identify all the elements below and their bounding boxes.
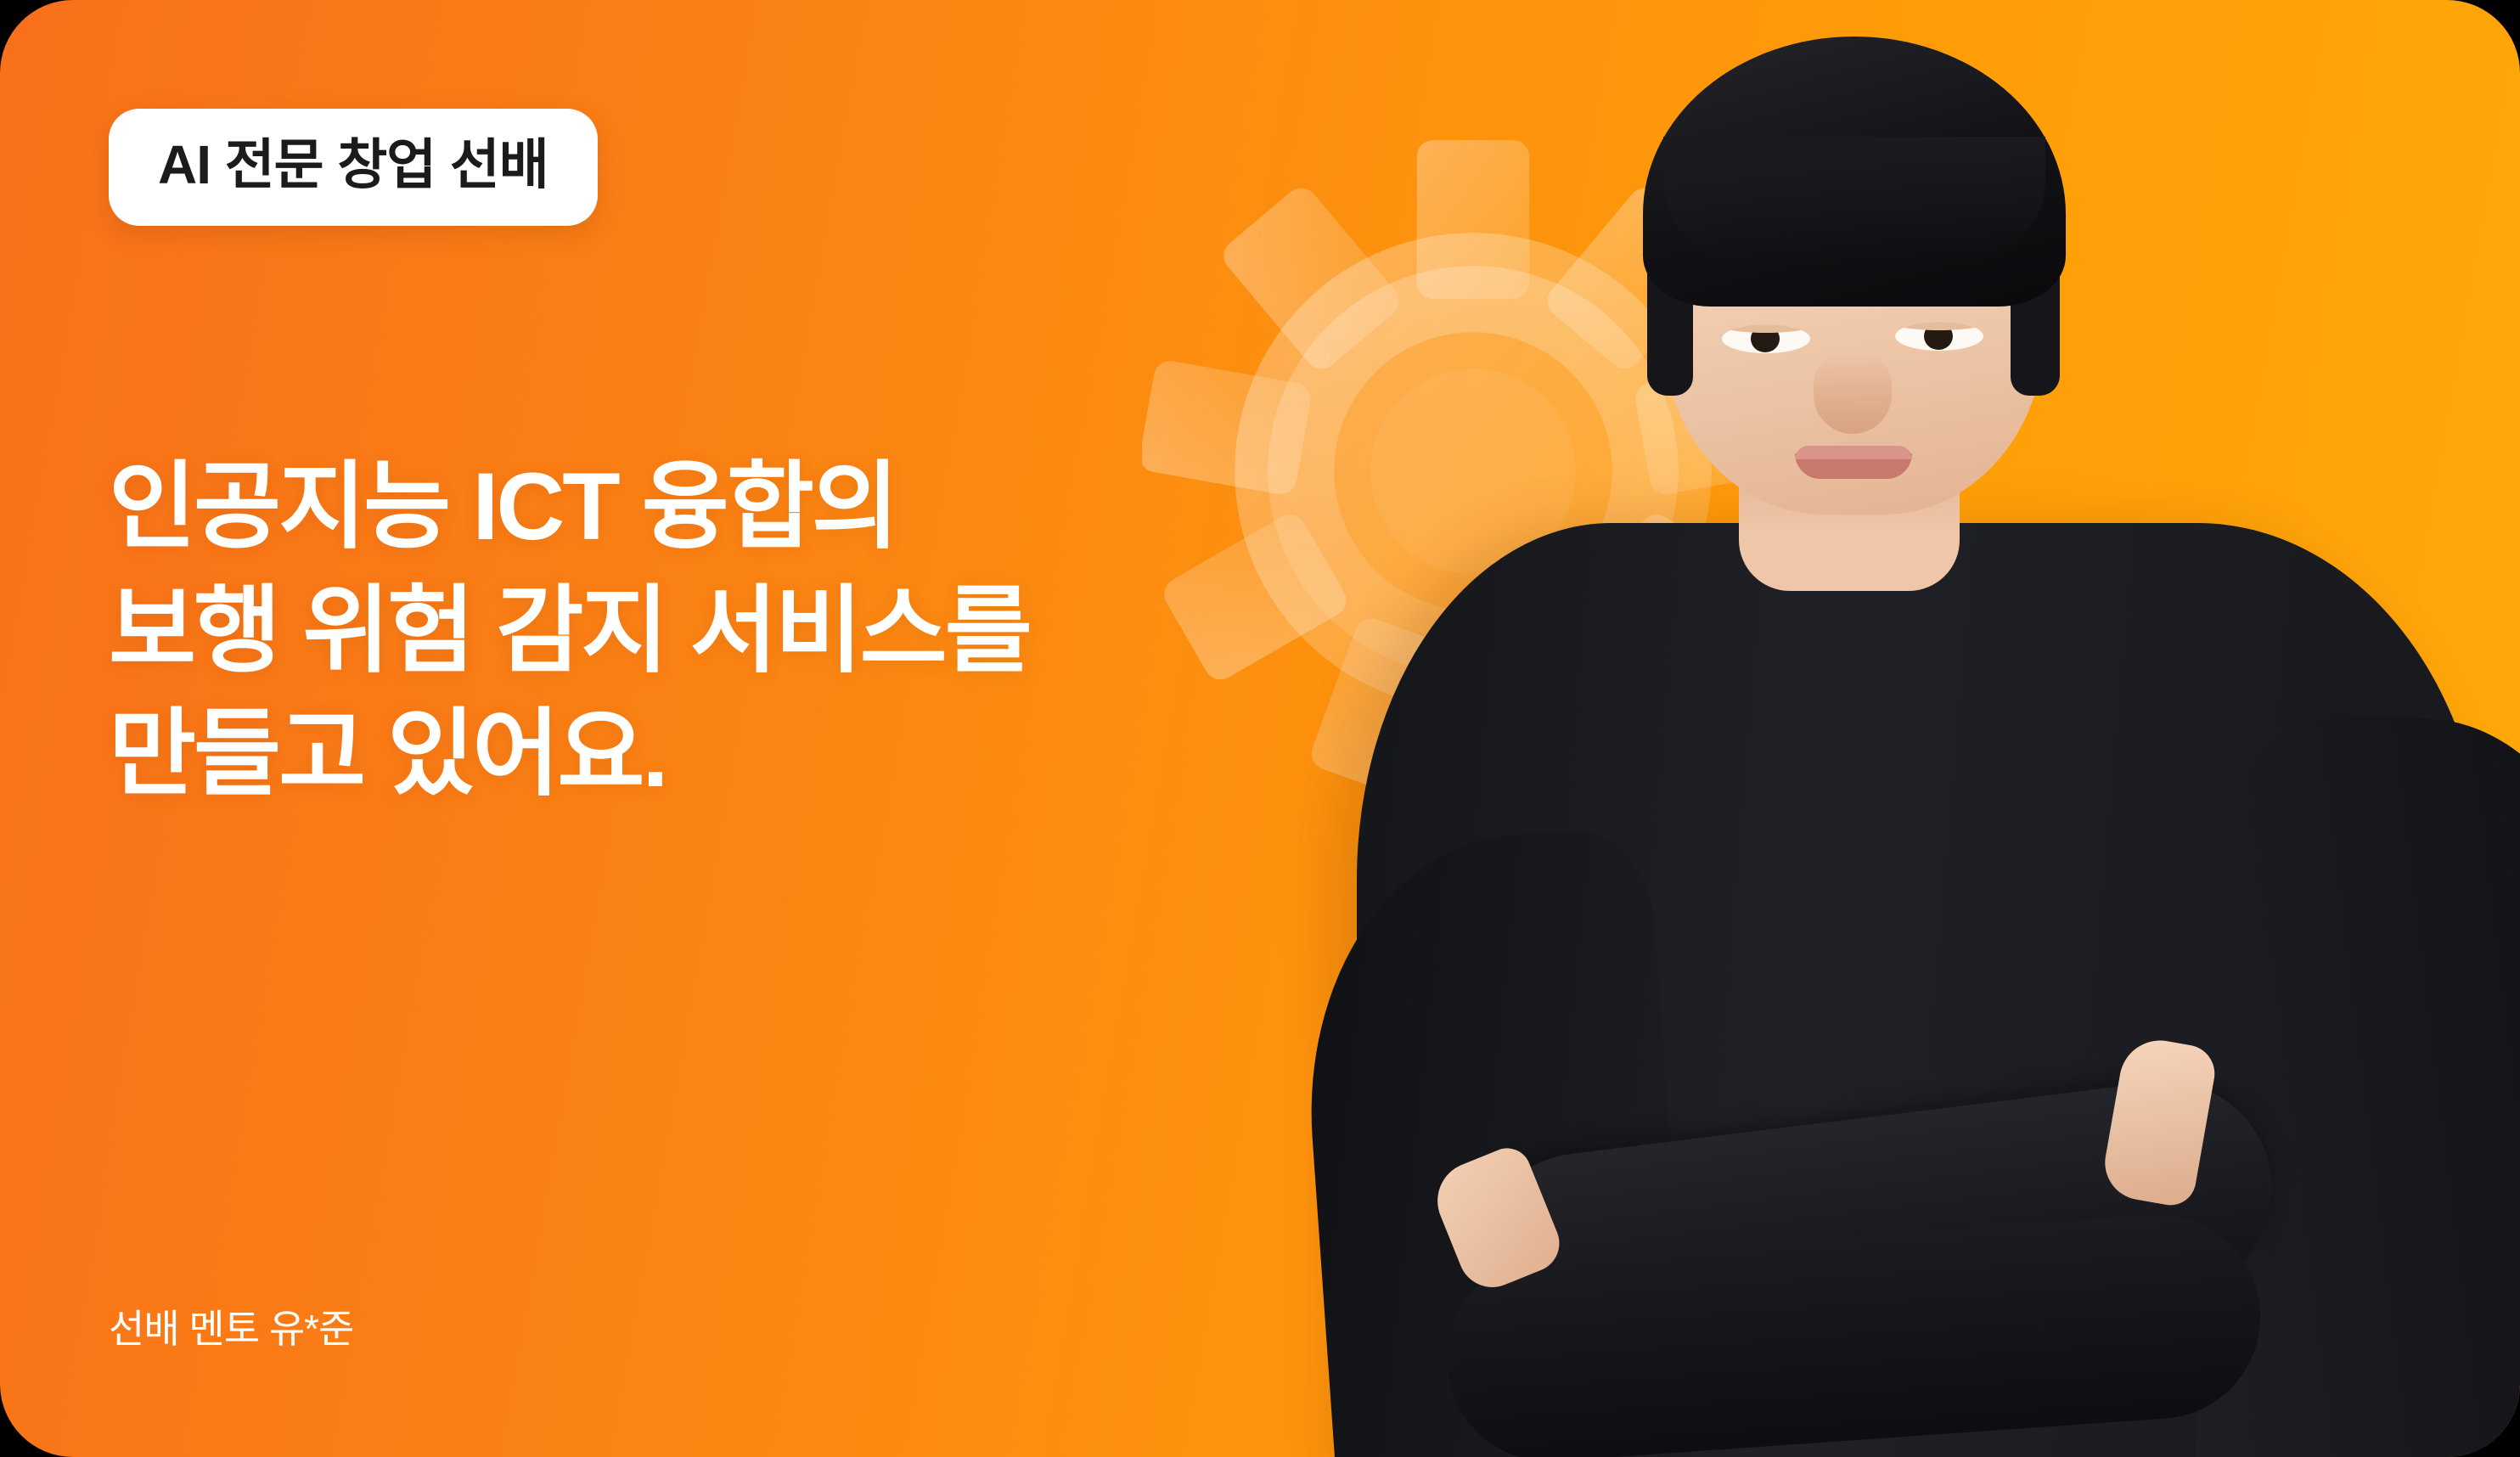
headline-line-2: 보행 위험 감지 서비스를 bbox=[109, 569, 1030, 693]
mentor-name-label: 선배 멘토 유*준 bbox=[109, 1298, 353, 1354]
headline-line-3: 만들고 있어요. bbox=[109, 692, 1030, 816]
mentor-portrait-photo bbox=[1263, 0, 2520, 1457]
headline-line-1: 인공지능 ICT 융합의 bbox=[109, 445, 1030, 569]
headline: 인공지능 ICT 융합의 보행 위험 감지 서비스를 만들고 있어요. bbox=[109, 445, 1030, 816]
portrait-eye-right bbox=[1895, 322, 1983, 351]
portrait-hair bbox=[1643, 37, 2066, 307]
promo-banner-card: AI 전문 창업 선배 인공지능 ICT 융합의 보행 위험 감지 서비스를 만… bbox=[0, 0, 2520, 1457]
portrait-nose bbox=[1814, 352, 1892, 434]
category-badge-label: AI 전문 창업 선배 bbox=[158, 138, 548, 192]
portrait-eye-left bbox=[1722, 324, 1810, 353]
portrait-mouth bbox=[1795, 453, 1912, 479]
category-badge: AI 전문 창업 선배 bbox=[109, 109, 598, 226]
